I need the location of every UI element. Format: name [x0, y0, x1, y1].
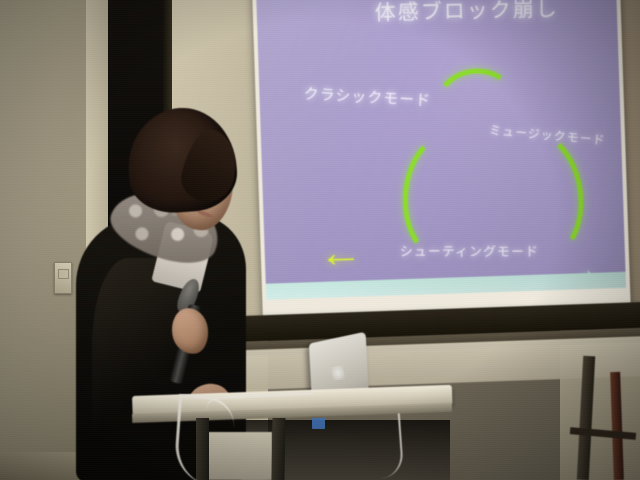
photo-scene: 体感ブロック崩し クラシックモード ミュージックモード シューティングモード ←… — [0, 0, 640, 480]
table-sticker — [312, 418, 325, 429]
light-switch-plate[interactable] — [54, 262, 72, 294]
apple-logo-icon — [331, 365, 346, 381]
presentation-slide: 体感ブロック崩し クラシックモード ミュージックモード シューティングモード ←… — [256, 0, 626, 300]
table-leg-right — [271, 418, 285, 480]
screen-frame: 体感ブロック崩し クラシックモード ミュージックモード シューティングモード ←… — [252, 0, 631, 320]
slide-label-classic-mode: クラシックモード — [303, 83, 432, 111]
slide-bottom-band — [266, 272, 626, 300]
slide-label-shooting-mode: シューティングモード — [400, 241, 539, 260]
slide-prev-arrow-icon[interactable]: ← — [318, 232, 363, 273]
projection-screen: 体感ブロック崩し クラシックモード ミュージックモード シューティングモード ←… — [252, 0, 631, 320]
slide-title: 体感ブロック崩し — [374, 0, 559, 27]
cable-hanging-left — [173, 394, 236, 480]
